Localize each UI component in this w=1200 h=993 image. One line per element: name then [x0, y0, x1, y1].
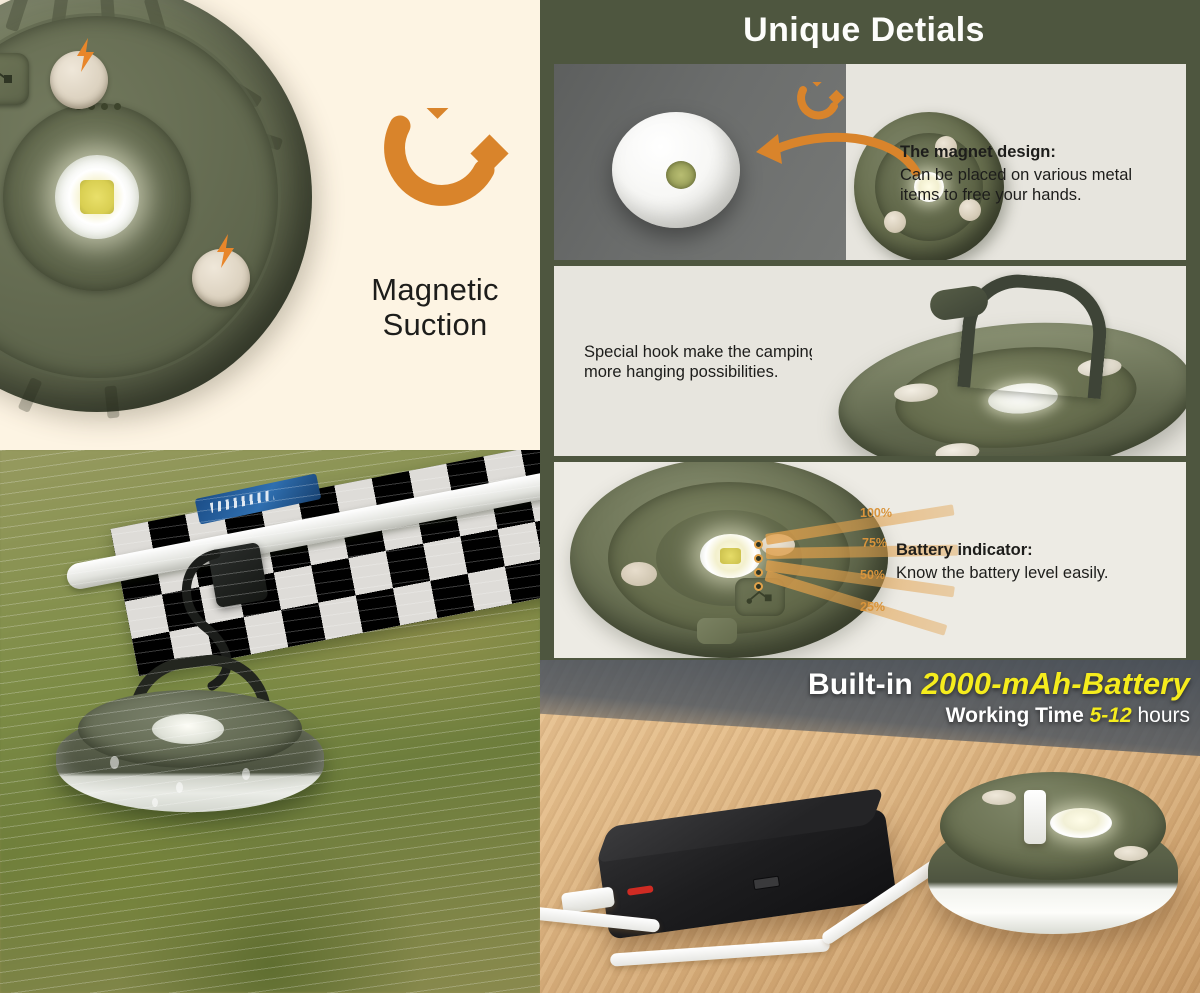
banner-line2-suffix: hours	[1132, 704, 1190, 727]
banner-line-2: Working Time 5-12 hours	[808, 704, 1190, 728]
rain-overlay	[0, 450, 540, 993]
banner-line-1: Built-in 2000-mAh-Battery	[808, 666, 1190, 702]
power-button	[697, 618, 737, 644]
battery-banner: Built-in 2000-mAh-Battery Working Time 5…	[808, 666, 1190, 728]
battery-level-25: 25%	[860, 600, 885, 614]
magnet-body-line1: Can be placed on various metal	[900, 165, 1176, 185]
power-bank-usb-port	[753, 876, 780, 891]
magnet-pad	[884, 211, 906, 233]
lamp-body	[0, 0, 312, 412]
panel-battery-indicator: 100% 75% 50% 25% Battery indicator: Know…	[554, 462, 1186, 658]
camping-lamp-charging	[928, 772, 1178, 942]
battery-indicator-text: Battery indicator: Know the battery leve…	[896, 540, 1178, 583]
magnet-horseshoe-icon	[792, 82, 848, 134]
charging-scene-photo: Built-in 2000-mAh-Battery Working Time 5…	[540, 660, 1200, 993]
lamp-center-badge	[666, 161, 696, 189]
banner-line2-prefix: Working Time	[946, 704, 1090, 727]
power-bank-led-strip	[627, 885, 654, 896]
magnet-pad	[621, 562, 657, 586]
led-lens	[1050, 808, 1112, 838]
panel-hook-design: Special hook make the camping light more…	[554, 266, 1186, 456]
magnet-heading: The magnet design:	[900, 142, 1176, 163]
panel-magnet-design: The magnet design: Can be placed on vari…	[554, 64, 1186, 260]
battery-level-leds	[754, 540, 763, 596]
lamp-body	[570, 462, 888, 658]
battery-indicator-photo	[554, 462, 914, 658]
banner-line1-highlight: 2000-mAh-Battery	[921, 666, 1190, 701]
battery-body-line1: Know the battery level easily.	[896, 563, 1178, 583]
magnet-design-text: The magnet design: Can be placed on vari…	[900, 142, 1176, 205]
magnet-horseshoe-icon	[372, 108, 522, 258]
magnet-pad	[1114, 846, 1148, 861]
right-column-header: Unique Detials	[540, 0, 1200, 62]
rain-scene-photo	[0, 450, 540, 993]
page-title: Unique Detials	[540, 11, 1188, 50]
hero-title-line2: Suction	[330, 307, 540, 342]
battery-level-100: 100%	[860, 506, 892, 520]
battery-heading: Battery indicator:	[896, 540, 1178, 561]
banner-line2-highlight: 5-12	[1090, 704, 1132, 727]
led-light	[700, 534, 760, 578]
hero-title: Magnetic Suction	[330, 272, 540, 343]
hero-title-line1: Magnetic	[330, 272, 540, 307]
usb-plug	[1024, 790, 1046, 844]
led-light	[55, 155, 138, 238]
lamp-inner-ring	[0, 16, 278, 377]
hero-magnetic-suction-panel: Magnetic Suction	[0, 0, 540, 450]
magnet-body-line2: items to free your hands.	[900, 185, 1176, 205]
white-lamp-attached	[612, 112, 740, 228]
lightning-bolt-icon	[73, 38, 99, 72]
usb-port	[0, 53, 29, 105]
battery-level-50: 50%	[860, 568, 885, 582]
banner-line1-prefix: Built-in	[808, 668, 921, 701]
hero-product-photo	[0, 0, 322, 450]
lightning-bolt-icon	[213, 234, 239, 268]
hook-product-photo	[812, 266, 1186, 456]
battery-level-75: 75%	[862, 536, 887, 550]
magnet-pad	[982, 790, 1016, 805]
infographic-page: Magnetic Suction Unique Detials	[0, 0, 1200, 993]
